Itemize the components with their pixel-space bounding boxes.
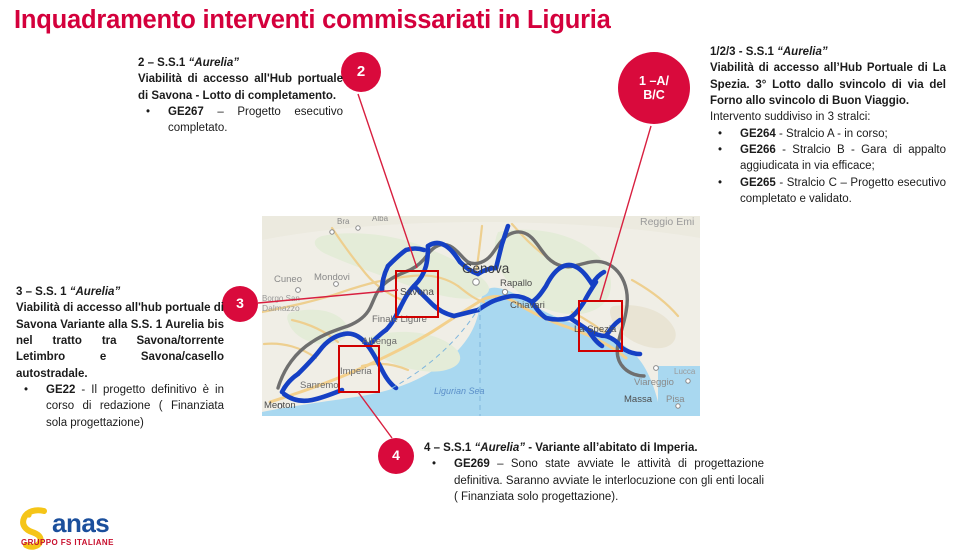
callout-intervento-2: 2 – S.S.1 “Aurelia” Viabilità di accesso…	[138, 55, 343, 137]
map-marker-2[interactable]: 2	[341, 52, 381, 92]
svg-text:Dalmazzo: Dalmazzo	[262, 303, 300, 313]
svg-text:Menton: Menton	[264, 400, 296, 411]
callout-4-bullet-0-code: GE269	[454, 458, 490, 470]
svg-text:Chiavari: Chiavari	[510, 300, 545, 311]
callout-4-heading-prefix: 4 – S.S.1	[424, 442, 475, 454]
callout-2-heading: 2 – S.S.1 “Aurelia”	[138, 55, 343, 71]
bullet-icon: •	[146, 104, 150, 120]
svg-text:Mondovi: Mondovi	[314, 272, 350, 283]
list-item: •GE22 - Il progetto definitivo è in cors…	[16, 382, 224, 431]
callout-2-heading-prefix: 2 – S.S.1	[138, 57, 189, 69]
callout-1-heading: 1/2/3 - S.S.1 “Aurelia”	[710, 44, 946, 60]
map-marker-4[interactable]: 4	[378, 438, 414, 474]
callout-1-heading-italic: “Aurelia”	[777, 46, 828, 58]
anas-wordmark: anas	[52, 508, 109, 539]
callout-2-heading-italic: “Aurelia”	[189, 57, 240, 69]
map-highlight-imperia	[338, 345, 380, 393]
svg-text:Alba: Alba	[372, 216, 389, 223]
callout-4-heading: 4 – S.S.1 “Aurelia” - Variante all’abita…	[424, 440, 764, 456]
map-highlight-laspezia	[578, 300, 623, 352]
bullet-icon: •	[24, 382, 28, 398]
svg-text:Lucca: Lucca	[674, 367, 696, 376]
callout-1-bullet-1-code: GE266	[740, 144, 776, 156]
svg-text:Massa: Massa	[624, 394, 653, 405]
callout-3-heading-prefix: 3 – S.S. 1	[16, 286, 70, 298]
callout-4-bullets: •GE269 – Sono state avviate le attività …	[424, 456, 764, 505]
list-item: •GE266 - Stralcio B - Gara di appalto ag…	[710, 142, 946, 175]
callout-intervento-3: 3 – S.S. 1 “Aurelia” Viabilità di access…	[16, 284, 224, 431]
callout-1-description: Viabilità di accesso all’Hub Portuale di…	[710, 60, 946, 109]
marker-1abc-label: 1 –A/ B/C	[639, 74, 669, 102]
bullet-icon: •	[718, 126, 722, 142]
map-marker-1abc[interactable]: 1 –A/ B/C	[618, 52, 690, 124]
list-item: •GE264 - Stralcio A - in corso;	[710, 126, 946, 142]
map-graphic: Bra Alba Cuneo Mondovi Borgo San Dalmazz…	[262, 216, 700, 416]
map-highlight-savona	[395, 270, 439, 318]
marker-2-label: 2	[357, 64, 365, 81]
svg-text:Genova: Genova	[462, 261, 510, 276]
callout-3-bullet-0-code: GE22	[46, 384, 75, 396]
bullet-icon: •	[718, 142, 722, 158]
list-item: •GE267 – Progetto esecutivo completato.	[138, 104, 343, 137]
callout-3-description: Viabilità di accesso all'hub portuale di…	[16, 300, 224, 382]
list-item: •GE265 - Stralcio C – Progetto esecutivo…	[710, 175, 946, 208]
svg-text:Bra: Bra	[337, 217, 350, 226]
callout-1-subnote: Intervento suddiviso in 3 stralci:	[710, 109, 946, 125]
callout-4-heading-suffix: - Variante all’abitato di Imperia.	[525, 442, 698, 454]
callout-4-heading-italic: “Aurelia”	[475, 442, 526, 454]
svg-text:Rapallo: Rapallo	[500, 278, 532, 289]
callout-1-bullet-0-code: GE264	[740, 128, 776, 140]
svg-text:Pisa: Pisa	[666, 394, 685, 405]
marker-4-label: 4	[392, 448, 400, 464]
callout-intervento-1abc: 1/2/3 - S.S.1 “Aurelia” Viabilità di acc…	[710, 44, 946, 207]
callout-2-bullet-0-code: GE267	[168, 106, 204, 118]
liguria-map[interactable]: Bra Alba Cuneo Mondovi Borgo San Dalmazz…	[262, 216, 700, 416]
callout-4-bullet-0-text: – Sono state avviate le attività di prog…	[454, 458, 764, 503]
callout-2-bullets: •GE267 – Progetto esecutivo completato.	[138, 104, 343, 137]
bullet-icon: •	[432, 456, 436, 472]
callout-1-bullets: •GE264 - Stralcio A - in corso; •GE266 -…	[710, 126, 946, 208]
marker-3-label: 3	[236, 296, 244, 312]
callout-3-heading-italic: “Aurelia”	[70, 286, 121, 298]
svg-text:Viareggio: Viareggio	[634, 377, 674, 388]
callout-1-bullet-2-code: GE265	[740, 177, 776, 189]
callout-2-description: Viabilità di accesso all'Hub portuale di…	[138, 71, 343, 104]
slide-canvas: Inquadramento interventi commissariati i…	[0, 0, 960, 555]
svg-text:Cuneo: Cuneo	[274, 274, 302, 285]
anas-tagline: GRUPPO FS ITALIANE	[21, 538, 114, 547]
svg-text:Sanremo: Sanremo	[300, 380, 339, 391]
callout-intervento-4: 4 – S.S.1 “Aurelia” - Variante all’abita…	[424, 440, 764, 505]
callout-1-bullet-0-text: - Stralcio A - in corso;	[776, 128, 888, 140]
page-title: Inquadramento interventi commissariati i…	[14, 6, 611, 35]
svg-text:Borgo San: Borgo San	[262, 294, 300, 303]
callout-3-bullets: •GE22 - Il progetto definitivo è in cors…	[16, 382, 224, 431]
list-item: •GE269 – Sono state avviate le attività …	[424, 456, 764, 505]
callout-1-heading-prefix: 1/2/3 - S.S.1	[710, 46, 777, 58]
svg-text:Reggio Emi: Reggio Emi	[640, 216, 694, 228]
svg-text:Ligurian Sea: Ligurian Sea	[434, 386, 485, 396]
callout-3-heading: 3 – S.S. 1 “Aurelia”	[16, 284, 224, 300]
bullet-icon: •	[718, 175, 722, 191]
map-marker-3[interactable]: 3	[222, 286, 258, 322]
